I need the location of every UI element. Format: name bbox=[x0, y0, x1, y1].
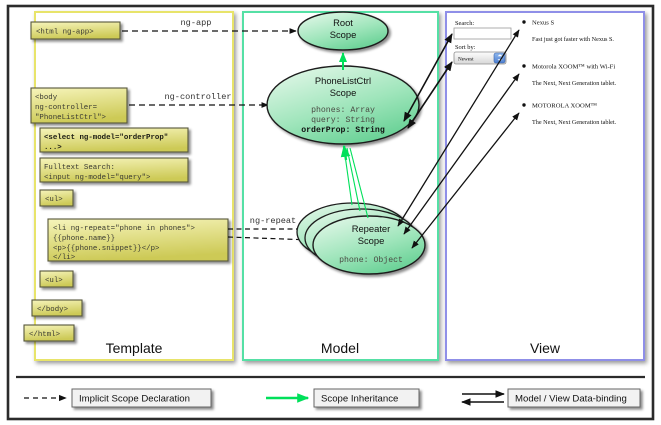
ul-open-box-line-0: <ul> bbox=[45, 196, 63, 204]
view-phone-snippet-0: Fast just got faster with Nexus S. bbox=[532, 36, 614, 43]
li-ngrepeat-box-line-1: {{phone.name}} bbox=[53, 235, 115, 243]
fulltext-search-box-line-1: <input ng-model="query"> bbox=[44, 174, 151, 182]
body-controller-box-line-0: <body bbox=[35, 94, 58, 102]
view-phone-snippet-2: The Next, Next Generation tablet. bbox=[532, 119, 617, 126]
column-label-template: Template bbox=[106, 340, 163, 356]
ul-close-box: <ul> bbox=[40, 271, 73, 287]
li-ngrepeat-box-line-2: <p>{{phone.snippet}}</p> bbox=[53, 245, 160, 253]
view-sort-label: Sort by: bbox=[455, 44, 476, 51]
ul-open-box: <ul> bbox=[40, 190, 73, 206]
body-controller-box: <body ng-controller= "PhoneListCtrl"> bbox=[31, 88, 127, 123]
phonelistctrl-scope-prop-2: orderProp: String bbox=[301, 125, 385, 135]
view-phone-name-1: Motorola XOOM™ with Wi-Fi bbox=[532, 64, 615, 71]
view-sort-value: Newest bbox=[458, 57, 474, 63]
list-bullet-icon bbox=[522, 64, 525, 67]
li-ngrepeat-box-line-0: <li ng-repeat="phone in phones"> bbox=[53, 225, 195, 233]
column-label-view: View bbox=[530, 340, 561, 356]
ul-close-box-line-0: <ul> bbox=[45, 277, 63, 285]
select-orderprop-box-line-0: <select ng-model="orderProp" bbox=[44, 134, 168, 142]
phonelistctrl-scope-title-0: PhoneListCtrl bbox=[315, 75, 371, 86]
legend-implicit-scope-label: Implicit Scope Declaration bbox=[79, 394, 190, 405]
fulltext-search-box: Fulltext Search: <input ng-model="query"… bbox=[40, 158, 188, 182]
column-model: Model bbox=[243, 12, 438, 360]
list-bullet-icon bbox=[522, 103, 525, 106]
html-close-box: </html> bbox=[24, 325, 74, 341]
root-scope-title-0: Root bbox=[333, 17, 353, 28]
li-ngrepeat-box-line-3: </li> bbox=[53, 254, 76, 262]
html-tag-box-line-0: <html ng-app> bbox=[36, 29, 94, 37]
ng-repeat-label: ng-repeat bbox=[250, 216, 296, 226]
body-controller-box-line-1: ng-controller= bbox=[35, 104, 98, 112]
repeater-scope-title-0: Repeater bbox=[352, 223, 391, 234]
repeater-scope-prop-0: phone: Object bbox=[339, 255, 403, 265]
html-tag-box: <html ng-app> bbox=[31, 22, 120, 39]
li-ngrepeat-box: <li ng-repeat="phone in phones"> {{phone… bbox=[48, 219, 228, 262]
root-scope-title-1: Scope bbox=[330, 29, 357, 40]
view-phone-snippet-1: The Next, Next Generation tablet. bbox=[532, 80, 617, 87]
view-phone-name-2: MOTOROLA XOOM™ bbox=[532, 103, 598, 110]
phonelistctrl-scope-prop-0: phones: Array bbox=[311, 105, 375, 115]
phonelistctrl-scope-prop-1: query: String bbox=[311, 115, 375, 125]
list-bullet-icon bbox=[522, 20, 525, 23]
select-orderprop-box: <select ng-model="orderProp" ...> bbox=[40, 128, 188, 152]
column-label-model: Model bbox=[321, 340, 359, 356]
body-controller-box-line-2: "PhoneListCtrl"> bbox=[35, 114, 107, 122]
ng-app-label: ng-app bbox=[181, 18, 212, 28]
legend-scope-inheritance-label: Scope Inheritance bbox=[321, 394, 398, 405]
legend-data-binding-label: Model / View Data-binding bbox=[515, 394, 627, 405]
body-close-box: </body> bbox=[32, 300, 82, 316]
phonelistctrl-scope: PhoneListCtrl Scope phones: Array query:… bbox=[267, 66, 419, 144]
body-close-box-line-0: </body> bbox=[37, 306, 69, 314]
select-orderprop-box-line-1: ...> bbox=[44, 144, 62, 152]
fulltext-search-box-line-0: Fulltext Search: bbox=[44, 164, 115, 172]
repeater-scope-title-1: Scope bbox=[358, 235, 385, 246]
view-phone-name-0: Nexus S bbox=[532, 20, 554, 27]
phonelistctrl-scope-title-1: Scope bbox=[330, 87, 357, 98]
root-scope: Root Scope bbox=[298, 12, 388, 50]
view-search-label: Search: bbox=[455, 20, 474, 27]
ng-controller-label: ng-controller bbox=[164, 92, 231, 102]
diagram-canvas: Template Model View <html ng-app> <body … bbox=[0, 0, 661, 425]
html-close-box-line-0: </html> bbox=[29, 331, 61, 339]
